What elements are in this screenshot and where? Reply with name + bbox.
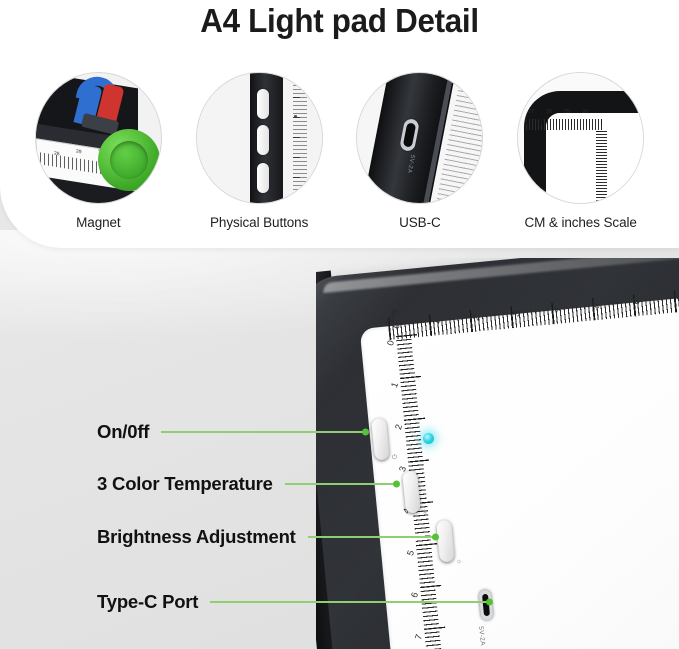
feature-label: CM & inches Scale: [524, 215, 636, 230]
callout-dot: [362, 429, 369, 436]
buttons-icon: [196, 72, 323, 204]
callout-type-c-port[interactable]: Type-C Port: [97, 591, 490, 613]
infographic-canvas: A4 Light pad Detail 28 29 30 Magnet: [0, 0, 679, 649]
callout-leader-line: [161, 431, 366, 433]
feature-item-physical-buttons[interactable]: Physical Buttons: [184, 72, 334, 230]
led-indicator: [423, 433, 434, 444]
feature-item-usb-c[interactable]: 5V-2A USB-C: [345, 72, 495, 230]
feature-label: USB-C: [399, 215, 441, 230]
callout-label: Type-C Port: [97, 591, 198, 613]
callout-leader-line: [308, 536, 436, 538]
feature-label: Physical Buttons: [210, 215, 308, 230]
magnet-icon: 28 29 30: [35, 72, 162, 204]
callout-leader-line: [285, 483, 397, 485]
brightness-glyph: ☼: [456, 558, 463, 566]
color-temp-glyph: ☀: [422, 508, 429, 517]
power-glyph: ⏻: [392, 454, 398, 462]
callout-leader-line: [210, 601, 490, 603]
callout-on-off[interactable]: On/0ff: [97, 421, 366, 443]
callout-label: On/0ff: [97, 421, 149, 443]
callout-dot: [486, 599, 493, 606]
callout-label: Brightness Adjustment: [97, 526, 296, 548]
page-title: A4 Light pad Detail: [17, 2, 662, 40]
callout-dot: [432, 534, 439, 541]
feature-item-magnet[interactable]: 28 29 30 Magnet: [23, 72, 173, 230]
feature-item-scale[interactable]: 27 28 29 30 CM & inches Scale: [506, 72, 656, 230]
usb-c-icon: 5V-2A: [356, 72, 483, 204]
callout-label: 3 Color Temperature: [97, 473, 273, 495]
feature-list: 28 29 30 Magnet: [0, 72, 679, 232]
callout-dot: [393, 481, 400, 488]
feature-label: Magnet: [76, 215, 120, 230]
ruler-icon: 27 28 29 30: [517, 72, 644, 204]
callout-color-temperature[interactable]: 3 Color Temperature: [97, 473, 397, 495]
callout-brightness[interactable]: Brightness Adjustment: [97, 526, 436, 548]
